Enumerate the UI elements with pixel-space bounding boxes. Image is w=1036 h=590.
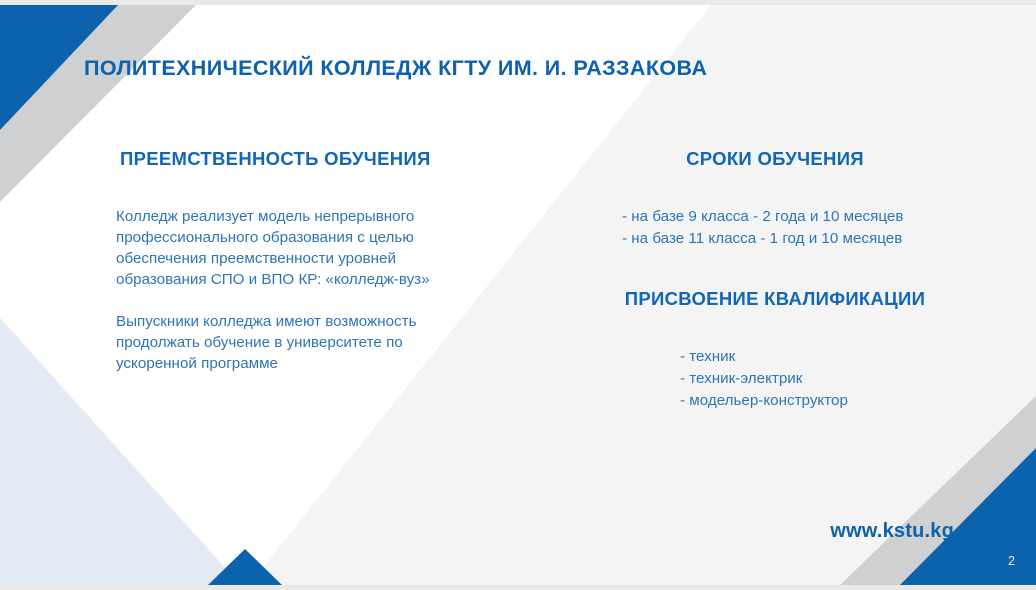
list-item: - техник-электрик — [680, 368, 848, 390]
list-qualifications: - техник - техник-электрик - модельер-ко… — [680, 346, 848, 412]
page-number: 2 — [1008, 554, 1015, 568]
paragraph-continuity-model: Колледж реализует модель непрерывного пр… — [116, 206, 486, 290]
presentation-slide: ПОЛИТЕХНИЧЕСКИЙ КОЛЛЕДЖ КГТУ ИМ. И. РАЗЗ… — [0, 0, 1036, 590]
heading-study-terms: СРОКИ ОБУЧЕНИЯ — [560, 148, 990, 170]
website-url[interactable]: www.kstu.kg — [830, 520, 954, 543]
slide-title: ПОЛИТЕХНИЧЕСКИЙ КОЛЛЕДЖ КГТУ ИМ. И. РАЗЗ… — [84, 56, 707, 81]
heading-qualification-award: ПРИСВОЕНИЕ КВАЛИФИКАЦИИ — [560, 288, 990, 310]
list-item: - на базе 9 класса - 2 года и 10 месяцев — [622, 206, 903, 228]
heading-continuity-of-education: ПРЕЕМСТВЕННОСТЬ ОБУЧЕНИЯ — [96, 148, 516, 170]
left-column: ПРЕЕМСТВЕННОСТЬ ОБУЧЕНИЯ Колледж реализу… — [96, 148, 516, 170]
right-column: СРОКИ ОБУЧЕНИЯ - на базе 9 класса - 2 го… — [560, 148, 990, 170]
list-study-terms: - на базе 9 класса - 2 года и 10 месяцев… — [622, 206, 903, 250]
paragraph-graduates-opportunity: Выпускники колледжа имеют возможность пр… — [116, 311, 486, 374]
list-item: - модельер-конструктор — [680, 390, 848, 412]
list-item: - на базе 11 класса - 1 год и 10 месяцев — [622, 228, 903, 250]
slide-content: ПОЛИТЕХНИЧЕСКИЙ КОЛЛЕДЖ КГТУ ИМ. И. РАЗЗ… — [0, 0, 1036, 590]
list-item: - техник — [680, 346, 848, 368]
